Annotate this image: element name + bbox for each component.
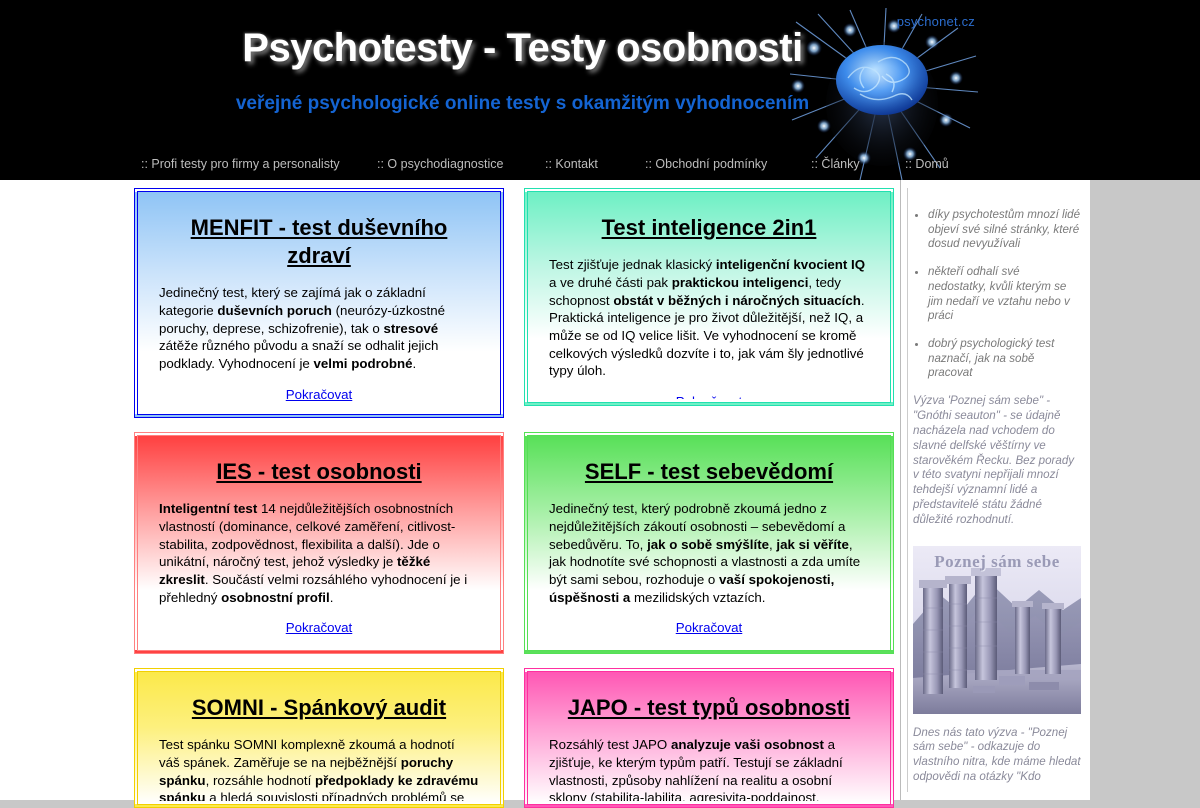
card-text-japo: Rozsáhlý test JAPO analyzuje vaši osobno… [549,736,869,801]
emphasised-text: obstát v běžných i náročných situacích [613,293,861,308]
card-text-self: Jedinečný test, který podrobně zkoumá je… [549,500,869,606]
logo-domain-label: psychonet.cz [897,14,975,29]
nav-link-0[interactable]: :: Profi testy pro firmy a personalisty [141,155,340,173]
sidebar-after-text: Dnes nás tato výzva - "Poznej sám sebe" … [913,726,1081,785]
content-inner: MENFIT - test duševního zdraví Jedinečný… [0,180,1090,800]
body-text: Test zjišťuje jednak klasický [549,257,716,272]
emphasised-text: inteligenční kvocient IQ [716,257,865,272]
emphasised-text: stresové [383,321,438,336]
list-item: dobrý psychologický test naznačí, jak na… [928,337,1081,381]
card-text-menfit: Jedinečný test, který se zajímá jak o zá… [159,284,479,372]
delphi-ruins-photo: Poznej sám sebe [913,546,1081,714]
sidebar-quote: Výzva 'Poznej sám sebe" - "Gnóthi seauto… [913,394,1081,527]
card-inner: SOMNI - Spánkový audit Test spánku SOMNI… [141,675,497,801]
emphasised-text: osobnostní profil [221,590,330,605]
card-cta-menfit[interactable]: Pokračovat [159,387,479,402]
body-text: . [330,590,334,605]
header-inner: psychonet.cz Psychotesty - Testy osobnos… [0,0,1090,180]
body-text: a hledá souvislosti případných problémů … [159,790,464,801]
test-card-japo[interactable]: JAPO - test typů osobnosti Rozsáhlý test… [524,668,894,808]
list-item: někteří odhalí své nedostatky, kvůli kte… [928,265,1081,324]
card-inner: JAPO - test typů osobnosti Rozsáhlý test… [531,675,887,801]
site-header: psychonet.cz Psychotesty - Testy osobnos… [0,0,1200,180]
list-item: díky psychotestům mnozí lidé objeví své … [928,208,1081,252]
right-gutter-header-fill [1090,0,1200,180]
emphasised-text: analyzuje vaši osobnost [671,737,824,752]
emphasised-text: Inteligentní test [159,501,257,516]
emphasised-text: jak si věříte [776,537,848,552]
emphasised-text: duševních poruch [217,303,332,318]
emphasised-text: praktickou inteligenci [672,275,809,290]
card-title-iq[interactable]: Test inteligence 2in1 [549,214,869,242]
test-card-ies[interactable]: IES - test osobnosti Inteligentní test 1… [134,432,504,654]
card-text-somni: Test spánku SOMNI komplexně zkoumá a hod… [159,736,479,801]
nav-link-1[interactable]: :: O psychodiagnostice [377,155,503,173]
page-title: Psychotesty - Testy osobnosti [0,26,1045,71]
nav-link-5[interactable]: :: Domů [905,155,949,173]
photo-caption: Poznej sám sebe [913,552,1081,572]
sidebar-benefit-list: díky psychotestům mnozí lidé objeví své … [913,208,1081,381]
card-inner: SELF - test sebevědomí Jedinečný test, k… [531,439,887,647]
card-text-iq: Test zjišťuje jednak klasický inteligenč… [549,256,869,380]
card-cta-self[interactable]: Pokračovat [549,620,869,635]
card-title-somni[interactable]: SOMNI - Spánkový audit [159,694,479,722]
card-cta-ies[interactable]: Pokračovat [159,620,479,635]
sidebar-body: díky psychotestům mnozí lidé objeví své … [913,208,1081,797]
body-text: a ve druhé části pak [549,275,672,290]
right-gutter [1090,0,1200,800]
card-title-ies[interactable]: IES - test osobnosti [159,458,479,486]
body-text: mezilidských vztazích. [630,590,765,605]
card-inner: Test inteligence 2in1 Test zjišťuje jedn… [531,195,887,399]
test-card-inteligence-2in1[interactable]: Test inteligence 2in1 Test zjišťuje jedn… [524,188,894,406]
test-card-somni[interactable]: SOMNI - Spánkový audit Test spánku SOMNI… [134,668,504,808]
test-card-grid: MENFIT - test duševního zdraví Jedinečný… [0,180,900,800]
body-text: . [413,356,417,371]
nav-link-3[interactable]: :: Obchodní podmínky [645,155,767,173]
nav-link-2[interactable]: :: Kontakt [545,155,598,173]
card-cta-iq[interactable]: Pokračovat [549,394,869,399]
right-sidebar: díky psychotestům mnozí lidé objeví své … [900,180,1090,800]
card-title-menfit[interactable]: MENFIT - test duševního zdraví [159,214,479,270]
card-title-self[interactable]: SELF - test sebevědomí [549,458,869,486]
emphasised-text: jak o sobě smýšlíte [647,537,769,552]
test-card-self[interactable]: SELF - test sebevědomí Jedinečný test, k… [524,432,894,654]
card-title-japo[interactable]: JAPO - test typů osobnosti [549,694,869,722]
page-subtitle: veřejné psychologické online testy s oka… [0,93,1045,115]
test-card-menfit[interactable]: MENFIT - test duševního zdraví Jedinečný… [134,188,504,418]
card-text-ies: Inteligentní test 14 nejdůležitějších os… [159,500,479,606]
primary-navigation: :: Profi testy pro firmy a personalisty:… [0,155,1090,177]
card-inner: MENFIT - test duševního zdraví Jedinečný… [141,195,497,411]
nav-link-4[interactable]: :: Články [811,155,860,173]
card-inner: IES - test osobnosti Inteligentní test 1… [141,439,497,647]
body-text: , rozsáhle hodnotí [206,773,315,788]
page-root: psychonet.cz Psychotesty - Testy osobnos… [0,0,1200,800]
content-area: MENFIT - test duševního zdraví Jedinečný… [0,180,1200,800]
emphasised-text: velmi podrobné [314,356,413,371]
sidebar-divider [907,188,908,792]
body-text: Rozsáhlý test JAPO [549,737,671,752]
